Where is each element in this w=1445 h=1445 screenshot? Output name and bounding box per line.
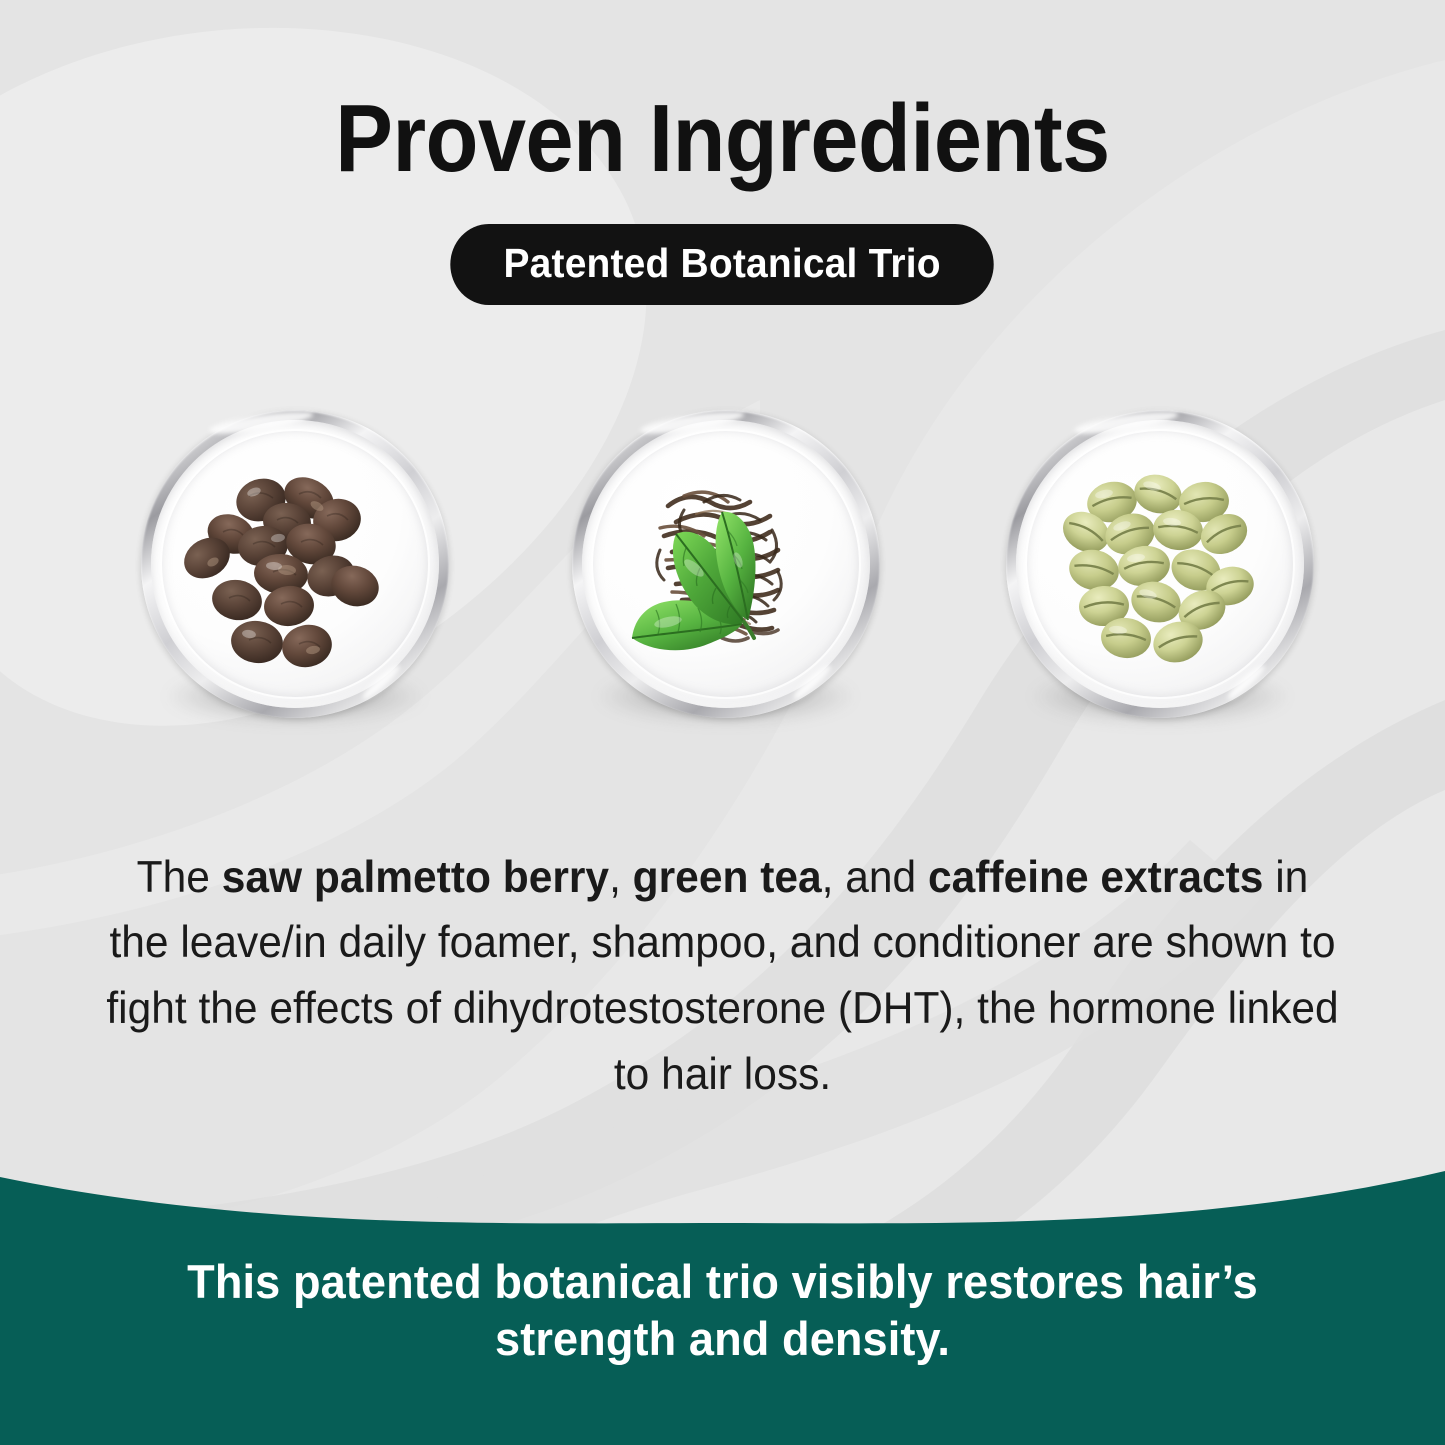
body-seg-1: The (137, 853, 222, 902)
body-seg-3: , and (822, 853, 928, 902)
petri-dish-green-tea (572, 410, 880, 718)
ingredient-dishes (0, 410, 1445, 730)
infographic-page: Proven Ingredients Patented Botanical Tr… (0, 0, 1445, 1445)
ingredient-description: The saw palmetto berry, green tea, and c… (101, 845, 1343, 1108)
footer-statement: This patented botanical trio visibly res… (115, 1253, 1329, 1368)
page-title: Proven Ingredients (72, 0, 1373, 190)
badge-row: Patented Botanical Trio (0, 224, 1445, 305)
body-bold-saw-palmetto: saw palmetto berry (222, 853, 609, 902)
petri-dish-green-coffee (1006, 410, 1314, 718)
body-seg-2: , (609, 853, 633, 902)
green-tea-leaves-icon (572, 410, 880, 718)
body-bold-green-tea: green tea (633, 853, 822, 902)
petri-dish-saw-palmetto (141, 410, 449, 718)
footer-banner: This patented botanical trio visibly res… (0, 1145, 1445, 1445)
green-coffee-beans-icon (1006, 410, 1314, 718)
header: Proven Ingredients Patented Botanical Tr… (0, 0, 1445, 305)
saw-palmetto-berries-icon (141, 410, 449, 718)
body-bold-caffeine: caffeine extracts (928, 853, 1263, 902)
patented-botanical-trio-badge: Patented Botanical Trio (451, 224, 995, 305)
